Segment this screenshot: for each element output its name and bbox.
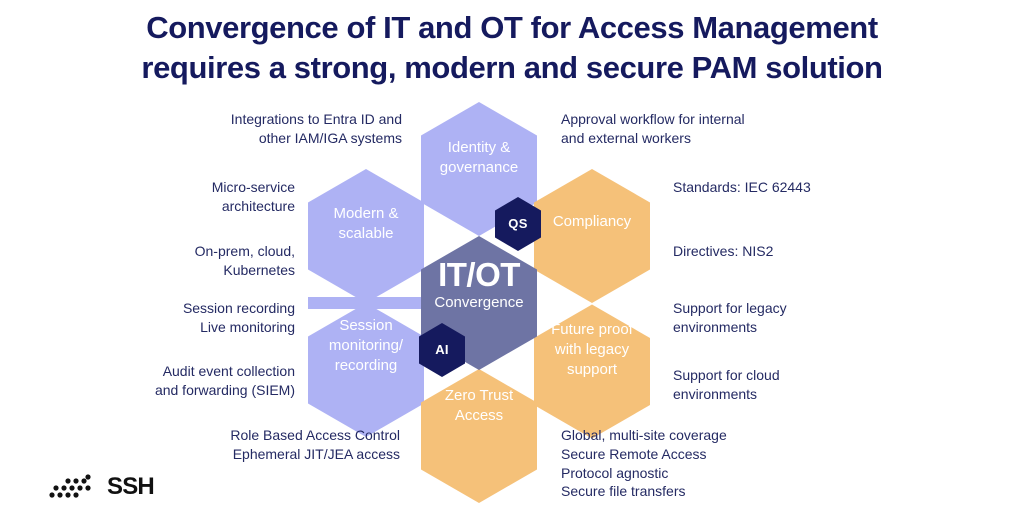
hex-group-orange-right <box>534 169 650 439</box>
annotation-rbac: Role Based Access Control Ephemeral JIT/… <box>160 426 400 464</box>
hex-shape-future-proof[interactable] <box>534 305 650 439</box>
annotation-cloud-env: Support for cloud environments <box>673 366 903 404</box>
annotation-legacy-env: Support for legacy environments <box>673 299 903 337</box>
hex-shape-session-monitoring[interactable] <box>308 303 424 437</box>
ssh-dot-matrix-icon <box>48 474 104 500</box>
hex-group-periwinkle-left <box>308 169 424 437</box>
hex-shape-modern-scalable[interactable] <box>308 169 424 303</box>
annotation-micro-service: Micro-service architecture <box>120 178 295 216</box>
annotation-directives: Directives: NIS2 <box>673 242 913 261</box>
hex-shape-compliancy[interactable] <box>534 169 650 303</box>
hex-shape-zero-trust-access[interactable] <box>421 369 537 503</box>
ssh-logo: SSH <box>48 474 154 500</box>
annotation-approval-workflow: Approval workflow for internal and exter… <box>561 110 861 148</box>
annotation-on-prem-cloud: On-prem, cloud, Kubernetes <box>110 242 295 280</box>
ssh-wordmark: SSH <box>107 475 154 499</box>
annotation-integrations: Integrations to Entra ID and other IAM/I… <box>120 110 402 148</box>
annotation-session-recording: Session recording Live monitoring <box>110 299 295 337</box>
annotation-global-coverage: Global, multi-site coverage Secure Remot… <box>561 426 861 501</box>
annotation-audit-event: Audit event collection and forwarding (S… <box>100 362 295 400</box>
annotation-standards: Standards: IEC 62443 <box>673 178 913 197</box>
